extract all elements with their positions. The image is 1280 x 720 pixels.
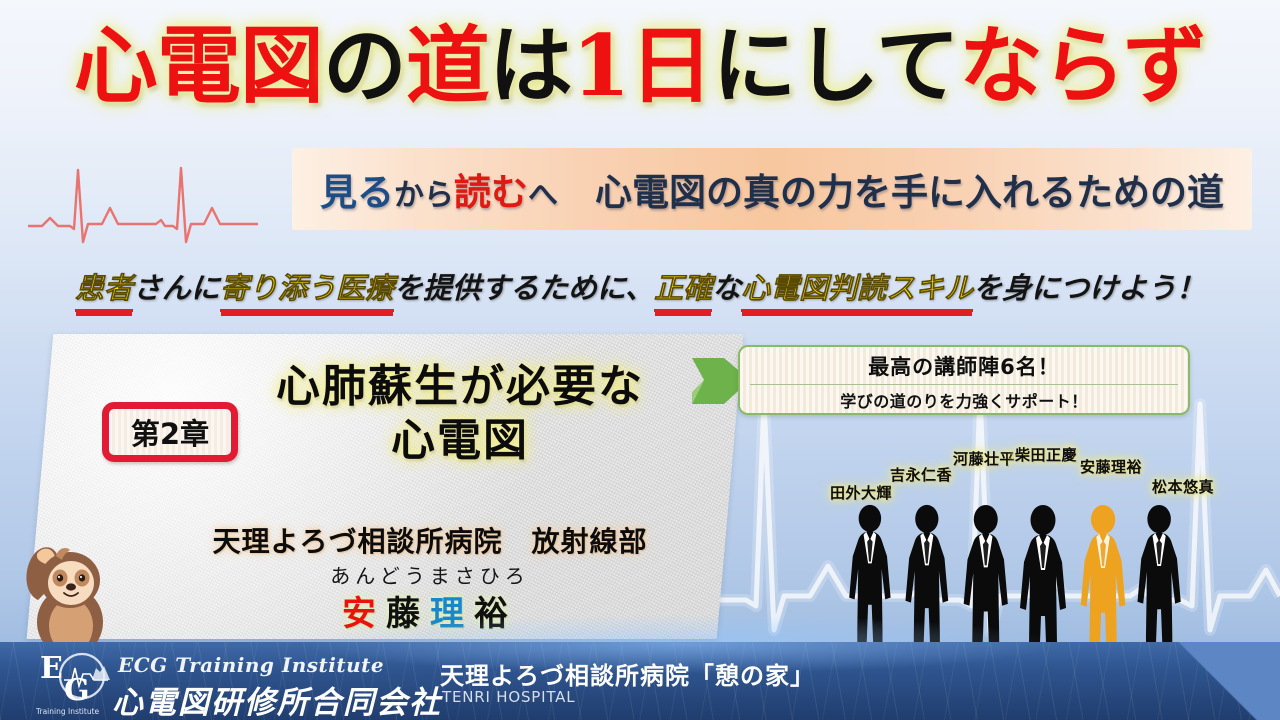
presenter-affiliation: 天理よろづ相談所病院 放射線部: [130, 520, 730, 560]
instructor-name-tag: 安藤理裕: [1080, 456, 1142, 477]
title-segment-3: は: [489, 16, 572, 115]
instructor-silhouette: [1130, 504, 1188, 664]
callout: 最高の講師陣6名！ 学びの道のりを力強くサポート！: [690, 345, 1190, 415]
subtitle-segment-0: 見る: [320, 170, 394, 214]
logo-caption: Training Institute: [35, 707, 100, 716]
catch-segment-6: 心電図判読スキル: [741, 265, 973, 312]
catch-segment-2: 寄り添う医療: [220, 265, 394, 312]
catch-segment-1: さんに: [133, 271, 220, 305]
hospital-name-ja: 天理よろづ相談所病院「憩の家」: [440, 656, 815, 691]
page-title: 心電図の道は1日にしてならず: [0, 24, 1280, 108]
subtitle-segment-4: 心電図の真の力を手に入れるための道: [558, 170, 1224, 214]
instructor-name-tag: 柴田正慶: [1015, 444, 1077, 465]
callout-box: 最高の講師陣6名！ 学びの道のりを力強くサポート！: [738, 345, 1190, 415]
subtitle-segment-2: 読む: [454, 170, 528, 214]
catch-segment-4: 正確: [654, 265, 712, 312]
instructor-name-tag: 田外大輝: [830, 482, 892, 503]
slide-canvas: 心電図の道は1日にしてならず 見るから読むへ 心電図の真の力を手に入れるための道…: [0, 0, 1280, 720]
ecg-wave-icon: [28, 158, 258, 248]
subtitle-segment-1: から: [394, 178, 454, 213]
catch-segment-5: な: [712, 271, 741, 305]
subtitle-segment-3: へ: [528, 178, 558, 213]
hospital-name-en: TENRI HOSPITAL: [442, 688, 575, 706]
brand-name-ja: 心電図研修所合同会社: [112, 677, 442, 720]
chapter-title-line2: 心電図: [210, 414, 710, 468]
title-segment-5: にして: [712, 16, 958, 115]
instructor-name-tag: 吉永仁香: [890, 464, 952, 485]
title-segment-0: 心電図: [74, 16, 323, 115]
brand-name-en: ECG Training Institute: [118, 653, 384, 677]
callout-title: 最高の講師陣6名！: [750, 351, 1178, 385]
catch-copy-line: 患者さんに寄り添う医療を提供するために、正確な心電図判読スキルを身につけよう！: [0, 265, 1280, 312]
title-segment-6: ならず: [959, 16, 1206, 115]
catch-segment-0: 患者: [75, 265, 133, 312]
title-segment-2: 道: [406, 16, 489, 115]
subtitle-text: 見るから読むへ 心電図の真の力を手に入れるための道: [320, 162, 1224, 216]
footer-corner-accent: [1130, 642, 1280, 720]
catch-segment-3: を提供するために、: [394, 271, 654, 305]
chapter-card: 第2章 心肺蘇生が必要な 心電図 天理よろづ相談所病院 放射線部 あんどうまさひ…: [27, 334, 744, 639]
catch-segment-7: を身につけよう！: [973, 271, 1205, 305]
chapter-badge-label: 第2章: [131, 411, 209, 453]
subtitle-banner: 見るから読むへ 心電図の真の力を手に入れるための道: [292, 148, 1252, 230]
chapter-title-line1: 心肺蘇生が必要な: [210, 360, 710, 414]
title-segment-1: の: [323, 16, 406, 115]
chapter-title: 心肺蘇生が必要な 心電図: [210, 360, 710, 467]
footer: E G Training Institute ECG Training Inst…: [0, 642, 1280, 720]
svg-text:E: E: [40, 651, 63, 686]
title-segment-4: 1日: [572, 16, 712, 115]
instructor-name-tag: 松本悠真: [1152, 476, 1214, 497]
presenter-name-kana: あんどうまさひろ: [130, 560, 730, 589]
callout-subtitle: 学びの道のりを力強くサポート！: [750, 388, 1178, 412]
instructor-name-tag: 河藤壮平: [953, 448, 1015, 469]
